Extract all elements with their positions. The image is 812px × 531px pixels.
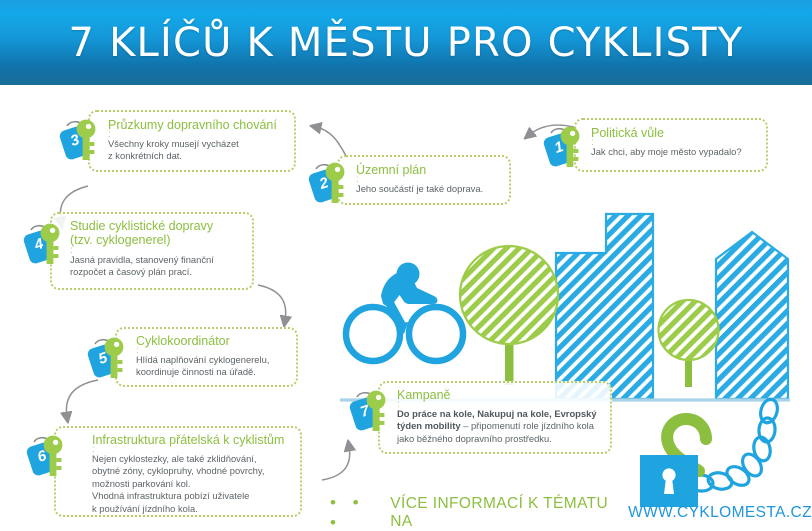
open-padlock-icon bbox=[640, 419, 706, 507]
footer: • • • VÍCE INFORMACÍ K TÉMATU NA WWW.CYK… bbox=[330, 500, 812, 526]
small-tree-icon bbox=[659, 300, 719, 387]
key-title-1: Politická vůle bbox=[591, 126, 767, 140]
key-body-6: Nejen cyklostezky, ale také zklidňování,… bbox=[92, 453, 304, 515]
key-title-5: Cyklokoordinátor bbox=[136, 334, 296, 348]
key-body-7: Do práce na kole, Nakupuj na kole, Evrop… bbox=[397, 408, 611, 445]
key-body-3: Všechny kroky musejí vycházet z konkrétn… bbox=[108, 138, 294, 163]
key-title-3: Průzkumy dopravního chování bbox=[108, 118, 294, 132]
footer-dots: • • • bbox=[330, 493, 384, 531]
key-body-1: Jak chci, aby moje město vypadalo? bbox=[591, 146, 765, 158]
page-title: 7 KLÍČŮ K MĚSTU PRO CYKLISTY bbox=[0, 0, 812, 85]
footer-website-link[interactable]: WWW.CYKLOMESTA.CZ bbox=[628, 504, 812, 522]
tall-building-icon bbox=[556, 214, 653, 399]
key-icon-7: 7 bbox=[344, 383, 400, 439]
key-title-4: Studie cyklistické dopravy (tzv. cykloge… bbox=[70, 219, 250, 247]
key-body-4: Jasná pravidla, stanovený finanční rozpo… bbox=[70, 254, 254, 279]
cyclist-icon bbox=[346, 263, 463, 362]
key-body-5: Hlídá naplňování cyklogenerelu, koordinu… bbox=[136, 354, 298, 379]
key-icon-1: 1 bbox=[538, 119, 594, 175]
key-title-2: Územní plán bbox=[356, 163, 506, 177]
house-building-icon bbox=[716, 232, 788, 399]
large-tree-icon bbox=[460, 246, 558, 385]
key-icon-3: 3 bbox=[54, 112, 110, 168]
bike-chain-icon bbox=[688, 397, 780, 492]
arrow-6-to-7 bbox=[322, 446, 350, 480]
footer-text: VÍCE INFORMACÍ K TÉMATU NA bbox=[390, 495, 622, 531]
key-icon-2: 2 bbox=[303, 155, 359, 211]
key-title-6: Infrastruktura přátelská k cyklistům bbox=[92, 433, 302, 447]
infographic-poster: 7 KLÍČŮ K MĚSTU PRO CYKLISTY bbox=[0, 0, 812, 531]
key-icon-6: 6 bbox=[21, 428, 77, 484]
key-icon-4: 4 bbox=[18, 216, 74, 272]
arrow-2-to-3 bbox=[316, 127, 347, 158]
key-title-7: Kampaně bbox=[397, 388, 609, 402]
key-body-2: Jeho součástí je také doprava. bbox=[356, 183, 506, 195]
arrow-4-to-5 bbox=[258, 285, 286, 321]
key-icon-5: 5 bbox=[82, 330, 138, 386]
